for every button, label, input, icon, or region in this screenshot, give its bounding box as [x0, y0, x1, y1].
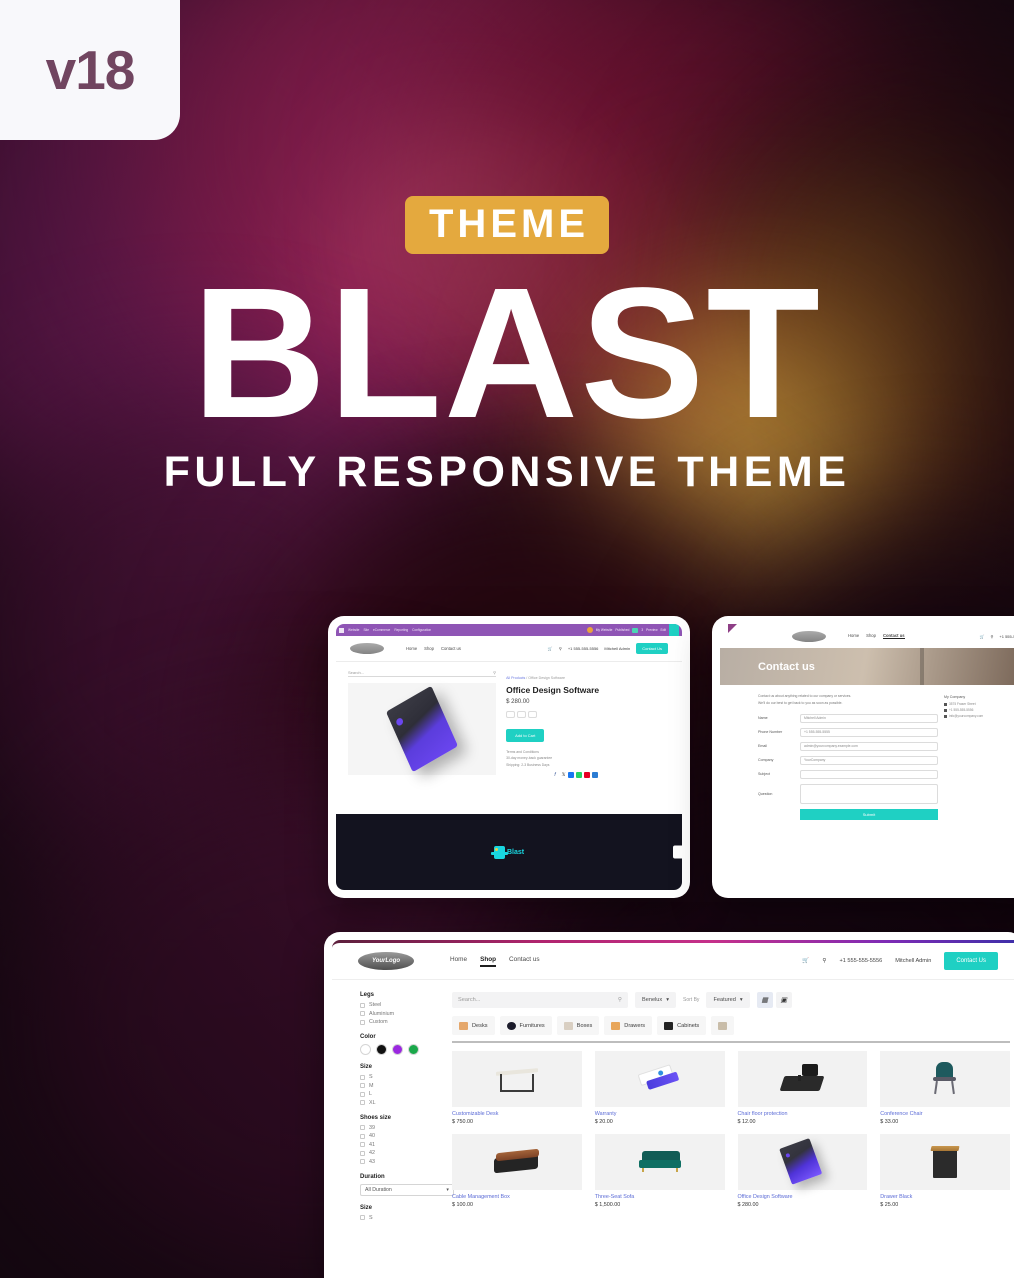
- phone-icon: [944, 709, 947, 712]
- product-image: [452, 1051, 582, 1107]
- header-tools: 🛒 ⚲ +1 555-555-5556 Mitchell Admin Conta…: [802, 952, 998, 970]
- product-image: [595, 1134, 725, 1190]
- checkbox-icon[interactable]: [360, 1083, 365, 1088]
- screenshot-card-contact-page[interactable]: Home Shop Contact us 🛒 ⚲ +1 555-555-5556…: [712, 616, 1014, 898]
- product-name[interactable]: Conference Chair: [880, 1111, 1010, 1117]
- drawer-icon: [611, 1022, 620, 1030]
- published-badge[interactable]: [632, 628, 638, 633]
- product-image: [595, 1051, 725, 1107]
- product-card[interactable]: Chair floor protection $ 12.00: [738, 1051, 868, 1125]
- grid-icon[interactable]: [339, 628, 344, 633]
- color-swatch-green[interactable]: [408, 1044, 419, 1055]
- filter-title-shoes-size: Shoes size: [360, 1115, 442, 1121]
- company-phone-row: +1 555-555-5556: [944, 708, 1006, 712]
- add-to-cart-button[interactable]: Add to Cart: [506, 729, 544, 742]
- avatar[interactable]: [587, 627, 593, 633]
- linkedin-icon[interactable]: [568, 772, 574, 778]
- social-share-row: f 𝕏: [552, 772, 670, 778]
- company-name: My Company: [944, 695, 1006, 699]
- breadcrumb-root[interactable]: All Products: [506, 676, 525, 680]
- product-card[interactable]: Conference Chair $ 33.00: [880, 1051, 1010, 1125]
- product-name[interactable]: Office Design Software: [738, 1194, 868, 1200]
- shop-main: Legs Steel Aluminium Custom Color Size S…: [332, 979, 1014, 1278]
- filters-sidebar: Legs Steel Aluminium Custom Color Size S…: [332, 992, 442, 1278]
- warranty-art: [637, 1060, 683, 1097]
- terms-line: Shipping: 2-3 Business Days: [506, 762, 670, 768]
- chair-mat-art: [780, 1064, 824, 1094]
- company-email-row: info@yourcompany.com: [944, 714, 1006, 718]
- category-label: Drawers: [624, 1023, 645, 1029]
- software-box-art: [780, 1137, 826, 1186]
- filter-option-custom[interactable]: Custom: [360, 1019, 442, 1025]
- checkbox-icon[interactable]: [360, 1215, 365, 1220]
- question-label: Question: [758, 792, 800, 796]
- phone-number[interactable]: +1 555-555-5556: [839, 958, 882, 964]
- checkbox-icon[interactable]: [360, 1011, 365, 1016]
- filter-label: 42: [369, 1150, 375, 1156]
- product-image: [452, 1134, 582, 1190]
- product-price: $ 100.00: [452, 1202, 582, 1208]
- filter-label: S: [369, 1074, 373, 1080]
- email-icon: [944, 715, 947, 718]
- submit-button[interactable]: Submit: [800, 809, 938, 820]
- scroll-tab[interactable]: [673, 846, 682, 859]
- sort-dropdown[interactable]: Featured ▾: [706, 992, 749, 1008]
- product-card[interactable]: Three-Seat Sofa $ 1,500.00: [595, 1134, 725, 1208]
- site-header: YourLogo Home Shop Contact us 🛒 ⚲ +1 555…: [332, 943, 1014, 979]
- grid-view-icon[interactable]: ▦: [757, 992, 773, 1008]
- category-boxes[interactable]: Boxes: [557, 1016, 600, 1035]
- duration-select[interactable]: All Duration ▾: [360, 1184, 454, 1196]
- contact-intro: Contact us about anything related to our…: [758, 693, 938, 707]
- filter-label: Custom: [369, 1019, 388, 1025]
- company-address-row: 3575 Fraser Street: [944, 702, 1006, 706]
- product-price: $ 20.00: [595, 1119, 725, 1125]
- list-view-icon[interactable]: ▣: [776, 992, 792, 1008]
- form-row-subject: Subject: [758, 770, 938, 779]
- filter-title-duration: Duration: [360, 1174, 442, 1180]
- intro-line: We'll do our best to get back to you as …: [758, 700, 938, 707]
- contact-us-button[interactable]: Contact Us: [636, 643, 668, 654]
- product-price: $ 280.00: [738, 1202, 868, 1208]
- product-price: $ 280.00: [506, 699, 670, 705]
- product-image: [880, 1134, 1010, 1190]
- version-label: v18: [46, 43, 135, 98]
- nav-item-contact[interactable]: Contact us: [883, 633, 905, 639]
- search-icon[interactable]: ⚲: [559, 646, 562, 651]
- page-title: BLAST: [0, 272, 1014, 436]
- twitter-icon[interactable]: 𝕏: [560, 772, 566, 778]
- site-header: Home Shop Contact us 🛒 ⚲ +1 555-555-5556: [720, 624, 1014, 648]
- breadcrumb: All Products / Office Design Software: [506, 676, 670, 680]
- logo[interactable]: [350, 643, 384, 654]
- shop-page-screen: YourLogo Home Shop Contact us 🛒 ⚲ +1 555…: [332, 940, 1014, 1278]
- name-label: Name: [758, 716, 800, 720]
- category-desks[interactable]: Desks: [452, 1016, 495, 1035]
- contact-hero-title: Contact us: [758, 661, 815, 673]
- region-value: Benelux: [642, 997, 662, 1003]
- search-icon[interactable]: ⚲: [493, 670, 496, 675]
- more-icon: [718, 1022, 727, 1030]
- contact-form: Contact us about anything related to our…: [758, 693, 938, 890]
- site-footer: Blast: [336, 814, 682, 890]
- product-card[interactable]: Warranty $ 20.00: [595, 1051, 725, 1125]
- nav-item-shop[interactable]: Shop: [480, 956, 496, 967]
- form-row-name: Name Mitchell Admin: [758, 714, 938, 723]
- product-price: $ 750.00: [452, 1119, 582, 1125]
- product-page-body: Search... ⚲ All Products / Office Design…: [336, 661, 682, 814]
- box-icon: [564, 1022, 573, 1030]
- category-tabs: Desks Furnitures Boxes Drawers: [452, 1016, 1010, 1043]
- filter-title-size-2: Size: [360, 1205, 442, 1211]
- checkbox-icon[interactable]: [360, 1159, 365, 1164]
- product-card[interactable]: Cable Management Box $ 100.00: [452, 1134, 582, 1208]
- hero-section: THEME BLAST FULLY RESPONSIVE THEME: [0, 196, 1014, 497]
- question-field[interactable]: [800, 784, 938, 804]
- filter-option-shoe-41[interactable]: 41: [360, 1142, 442, 1148]
- cart-icon[interactable]: 🛒: [979, 634, 984, 639]
- pin-icon: [944, 703, 947, 706]
- sort-value: Featured: [713, 997, 735, 1003]
- footer-logo-text: Blast: [507, 849, 524, 856]
- pinterest-icon[interactable]: [584, 772, 590, 778]
- nav-item-home[interactable]: Home: [406, 646, 417, 651]
- form-row-email: Email admin@yourcompany.example.com: [758, 742, 938, 751]
- color-swatch-black[interactable]: [376, 1044, 387, 1055]
- email-label: Email: [758, 744, 800, 748]
- product-name: Office Design Software: [506, 685, 670, 695]
- main-nav: Home Shop Contact us: [848, 633, 905, 639]
- product-image: [738, 1134, 868, 1190]
- company-email: info@yourcompany.com: [949, 714, 983, 718]
- desk-art: [496, 1066, 538, 1092]
- product-page-screen: Website Site eCommerce Reporting Configu…: [336, 624, 682, 890]
- nav-item-contact[interactable]: Contact us: [441, 646, 461, 651]
- product-price: $ 12.00: [738, 1119, 868, 1125]
- facebook-icon[interactable]: f: [552, 772, 558, 778]
- filter-option-shoe-43[interactable]: 43: [360, 1159, 442, 1165]
- desk-icon: [459, 1022, 468, 1030]
- filter-label: S: [369, 1215, 373, 1221]
- backend-edit-button[interactable]: Edit: [661, 628, 667, 632]
- phone-number[interactable]: +1 555-555-5556: [999, 634, 1014, 639]
- form-row-question: Question: [758, 784, 938, 804]
- account-menu[interactable]: Mitchell Admin: [604, 646, 630, 651]
- shop-content: Search... ⚲ Benelux ▾ Sort By Featured ▾…: [442, 992, 1014, 1278]
- robot-icon: [494, 846, 505, 859]
- theme-pill-label: THEME: [405, 196, 609, 254]
- contact-hero-banner: Contact us: [720, 648, 1014, 685]
- product-price: $ 25.00: [880, 1202, 1010, 1208]
- checkbox-icon[interactable]: [360, 1020, 365, 1025]
- cart-icon[interactable]: 🛒: [548, 646, 553, 651]
- decrement-button[interactable]: [506, 711, 515, 718]
- email-icon[interactable]: [592, 772, 598, 778]
- header-tools: 🛒 ⚲ +1 555-555-5556 Mitchell Admin Conta…: [548, 643, 668, 654]
- filter-label: Aluminium: [369, 1011, 394, 1017]
- product-name[interactable]: Chair floor protection: [738, 1111, 868, 1117]
- backend-menu-site[interactable]: Site: [363, 628, 369, 632]
- category-label: Cabinets: [677, 1023, 699, 1029]
- conference-chair-art: [930, 1062, 960, 1096]
- product-name[interactable]: Drawer Black: [880, 1194, 1010, 1200]
- company-label: Company: [758, 758, 800, 762]
- cabinet-icon: [664, 1022, 673, 1030]
- region-dropdown[interactable]: Benelux ▾: [635, 992, 676, 1008]
- odoo-backend-bar[interactable]: Website Site eCommerce Reporting Configu…: [336, 624, 682, 636]
- phone-label: Phone Number: [758, 730, 800, 734]
- hero-subtitle: FULLY RESPONSIVE THEME: [0, 448, 1014, 497]
- filter-option-steel[interactable]: Steel: [360, 1002, 442, 1008]
- filter-title-size: Size: [360, 1064, 442, 1070]
- software-box-art: [386, 686, 458, 772]
- contact-body: Contact us about anything related to our…: [720, 685, 1014, 890]
- color-swatches: [360, 1044, 442, 1055]
- product-image: [738, 1051, 868, 1107]
- filter-option-size-l[interactable]: L: [360, 1091, 442, 1097]
- filter-label: M: [369, 1083, 374, 1089]
- screenshot-card-product-page[interactable]: Website Site eCommerce Reporting Configu…: [328, 616, 690, 898]
- backend-menu-reporting[interactable]: Reporting: [394, 628, 408, 632]
- checkbox-icon[interactable]: [360, 1092, 365, 1097]
- email-field[interactable]: admin@yourcompany.example.com: [800, 742, 938, 751]
- search-input[interactable]: Search... ⚲: [348, 668, 496, 677]
- filter-option-size-m[interactable]: M: [360, 1083, 442, 1089]
- checkbox-icon[interactable]: [360, 1125, 365, 1130]
- filter-option-shoe-40[interactable]: 40: [360, 1133, 442, 1139]
- filter-label: 43: [369, 1159, 375, 1165]
- company-info-sidebar: My Company 3575 Fraser Street +1 555-555…: [944, 693, 1006, 890]
- logo-text: YourLogo: [372, 958, 400, 964]
- quantity-input[interactable]: [517, 711, 526, 718]
- phone-field[interactable]: +1 555-555-5555: [800, 728, 938, 737]
- search-icon[interactable]: ⚲: [618, 997, 622, 1003]
- backend-publish-toggle[interactable]: Published: [615, 628, 629, 632]
- checkbox-icon[interactable]: [360, 1142, 365, 1147]
- form-row-company: Company YourCompany: [758, 756, 938, 765]
- quantity-stepper[interactable]: [506, 711, 670, 718]
- filter-option-size-s[interactable]: S: [360, 1074, 442, 1080]
- category-cabinets[interactable]: Cabinets: [657, 1016, 706, 1035]
- filter-label: L: [369, 1091, 372, 1097]
- product-card[interactable]: Drawer Black $ 25.00: [880, 1134, 1010, 1208]
- search-placeholder: Search...: [348, 670, 364, 675]
- blast-logo: Blast: [494, 846, 524, 859]
- product-name[interactable]: Warranty: [595, 1111, 725, 1117]
- category-label: Desks: [472, 1023, 488, 1029]
- product-price: $ 1,500.00: [595, 1202, 725, 1208]
- product-grid: Customizable Desk $ 750.00 Warranty $ 20…: [452, 1051, 1010, 1208]
- form-row-phone: Phone Number +1 555-555-5555: [758, 728, 938, 737]
- search-input[interactable]: Search... ⚲: [452, 992, 628, 1008]
- product-card[interactable]: Office Design Software $ 280.00: [738, 1134, 868, 1208]
- corner-flag-icon: [728, 624, 737, 633]
- filter-label: 39: [369, 1125, 375, 1131]
- product-name[interactable]: Customizable Desk: [452, 1111, 582, 1117]
- header-tools: 🛒 ⚲ +1 555-555-5556: [979, 634, 1014, 639]
- view-toggle: ▦ ▣: [757, 992, 792, 1008]
- account-menu[interactable]: Mitchell Admin: [895, 958, 931, 964]
- filter-option-size-xl[interactable]: XL: [360, 1100, 442, 1106]
- search-icon[interactable]: ⚲: [990, 634, 993, 639]
- category-label: Furnitures: [520, 1023, 545, 1029]
- checkbox-icon[interactable]: [360, 1075, 365, 1080]
- search-icon[interactable]: ⚲: [822, 958, 826, 964]
- backend-menu-website[interactable]: Website: [348, 628, 359, 632]
- cart-icon[interactable]: 🛒: [802, 958, 809, 964]
- product-image: [880, 1051, 1010, 1107]
- checkbox-icon[interactable]: [360, 1100, 365, 1105]
- filter-option-shoe-42[interactable]: 42: [360, 1150, 442, 1156]
- checkbox-icon[interactable]: [360, 1003, 365, 1008]
- category-furnitures[interactable]: Furnitures: [500, 1016, 552, 1035]
- main-nav: Home Shop Contact us: [450, 956, 540, 967]
- search-placeholder: Search...: [458, 997, 480, 1003]
- subject-label: Subject: [758, 772, 800, 776]
- product-name[interactable]: Three-Seat Sofa: [595, 1194, 725, 1200]
- backend-website-selector[interactable]: My Website: [596, 628, 613, 632]
- category-more[interactable]: [711, 1016, 734, 1035]
- contact-page-screen: Home Shop Contact us 🛒 ⚲ +1 555-555-5556…: [720, 624, 1014, 890]
- product-name[interactable]: Cable Management Box: [452, 1194, 582, 1200]
- contact-us-button[interactable]: Contact Us: [944, 952, 998, 970]
- increment-button[interactable]: [528, 711, 537, 718]
- category-label: Boxes: [577, 1023, 593, 1029]
- product-info-column: All Products / Office Design Software Of…: [506, 668, 670, 814]
- backend-preview-button[interactable]: Preview: [646, 628, 657, 632]
- phone-number[interactable]: +1 555-555-5556: [568, 646, 599, 651]
- product-image: [348, 683, 496, 775]
- shop-toolbar: Search... ⚲ Benelux ▾ Sort By Featured ▾…: [452, 992, 1010, 1008]
- chevron-down-icon[interactable]: ▾: [740, 997, 743, 1003]
- filter-option-size2-s[interactable]: S: [360, 1215, 442, 1221]
- duration-value: All Duration: [365, 1187, 392, 1193]
- backend-menu-ecommerce[interactable]: eCommerce: [373, 628, 390, 632]
- breadcrumb-current: Office Design Software: [528, 676, 565, 680]
- intro-line: Contact us about anything related to our…: [758, 693, 938, 700]
- nav-item-shop[interactable]: Shop: [424, 646, 434, 651]
- color-swatch-white[interactable]: [360, 1044, 371, 1055]
- filter-label: XL: [369, 1100, 376, 1106]
- product-media-column: Search... ⚲: [348, 668, 496, 814]
- screenshot-card-shop-page[interactable]: YourLogo Home Shop Contact us 🛒 ⚲ +1 555…: [324, 932, 1014, 1278]
- subject-field[interactable]: [800, 770, 938, 779]
- company-address: 3575 Fraser Street: [949, 702, 976, 706]
- version-badge: v18: [0, 0, 180, 140]
- filter-title-legs: Legs: [360, 992, 442, 998]
- drawer-art: [931, 1145, 959, 1179]
- furniture-icon: [507, 1022, 516, 1030]
- name-field[interactable]: Mitchell Admin: [800, 714, 938, 723]
- product-terms: Terms and Conditions 30-day money-back g…: [506, 749, 670, 768]
- company-phone: +1 555-555-5556: [949, 708, 973, 712]
- company-field[interactable]: YourCompany: [800, 756, 938, 765]
- sofa-art: [638, 1149, 682, 1175]
- backend-bar-right: My Website Published 3 Preview Edit: [587, 624, 679, 636]
- nav-item-contact[interactable]: Contact us: [509, 956, 540, 967]
- checkbox-icon[interactable]: [360, 1151, 365, 1156]
- filter-label: Steel: [369, 1002, 381, 1008]
- filter-label: 41: [369, 1142, 375, 1148]
- nav-item-home[interactable]: Home: [450, 956, 467, 967]
- nav-item-home[interactable]: Home: [848, 633, 859, 639]
- main-nav: Home Shop Contact us: [406, 646, 461, 651]
- nav-item-shop[interactable]: Shop: [866, 633, 876, 639]
- cable-box-art: [494, 1149, 540, 1175]
- filter-title-color: Color: [360, 1034, 442, 1040]
- category-drawers[interactable]: Drawers: [604, 1016, 652, 1035]
- site-header: Home Shop Contact us 🛒 ⚲ +1 555-555-5556…: [336, 636, 682, 661]
- filter-option-shoe-39[interactable]: 39: [360, 1125, 442, 1131]
- whatsapp-icon[interactable]: [576, 772, 582, 778]
- product-price: $ 33.00: [880, 1119, 1010, 1125]
- logo[interactable]: [792, 631, 826, 642]
- sort-by-label: Sort By: [683, 997, 699, 1003]
- backend-edit-cta[interactable]: [669, 624, 679, 636]
- backend-counter[interactable]: 3: [641, 628, 643, 632]
- logo[interactable]: YourLogo: [358, 952, 414, 970]
- checkbox-icon[interactable]: [360, 1134, 365, 1139]
- filter-label: 40: [369, 1133, 375, 1139]
- backend-menu-configuration[interactable]: Configuration: [412, 628, 431, 632]
- filter-option-aluminium[interactable]: Aluminium: [360, 1011, 442, 1017]
- product-card[interactable]: Customizable Desk $ 750.00: [452, 1051, 582, 1125]
- color-swatch-purple[interactable]: [392, 1044, 403, 1055]
- chevron-down-icon[interactable]: ▾: [666, 997, 669, 1003]
